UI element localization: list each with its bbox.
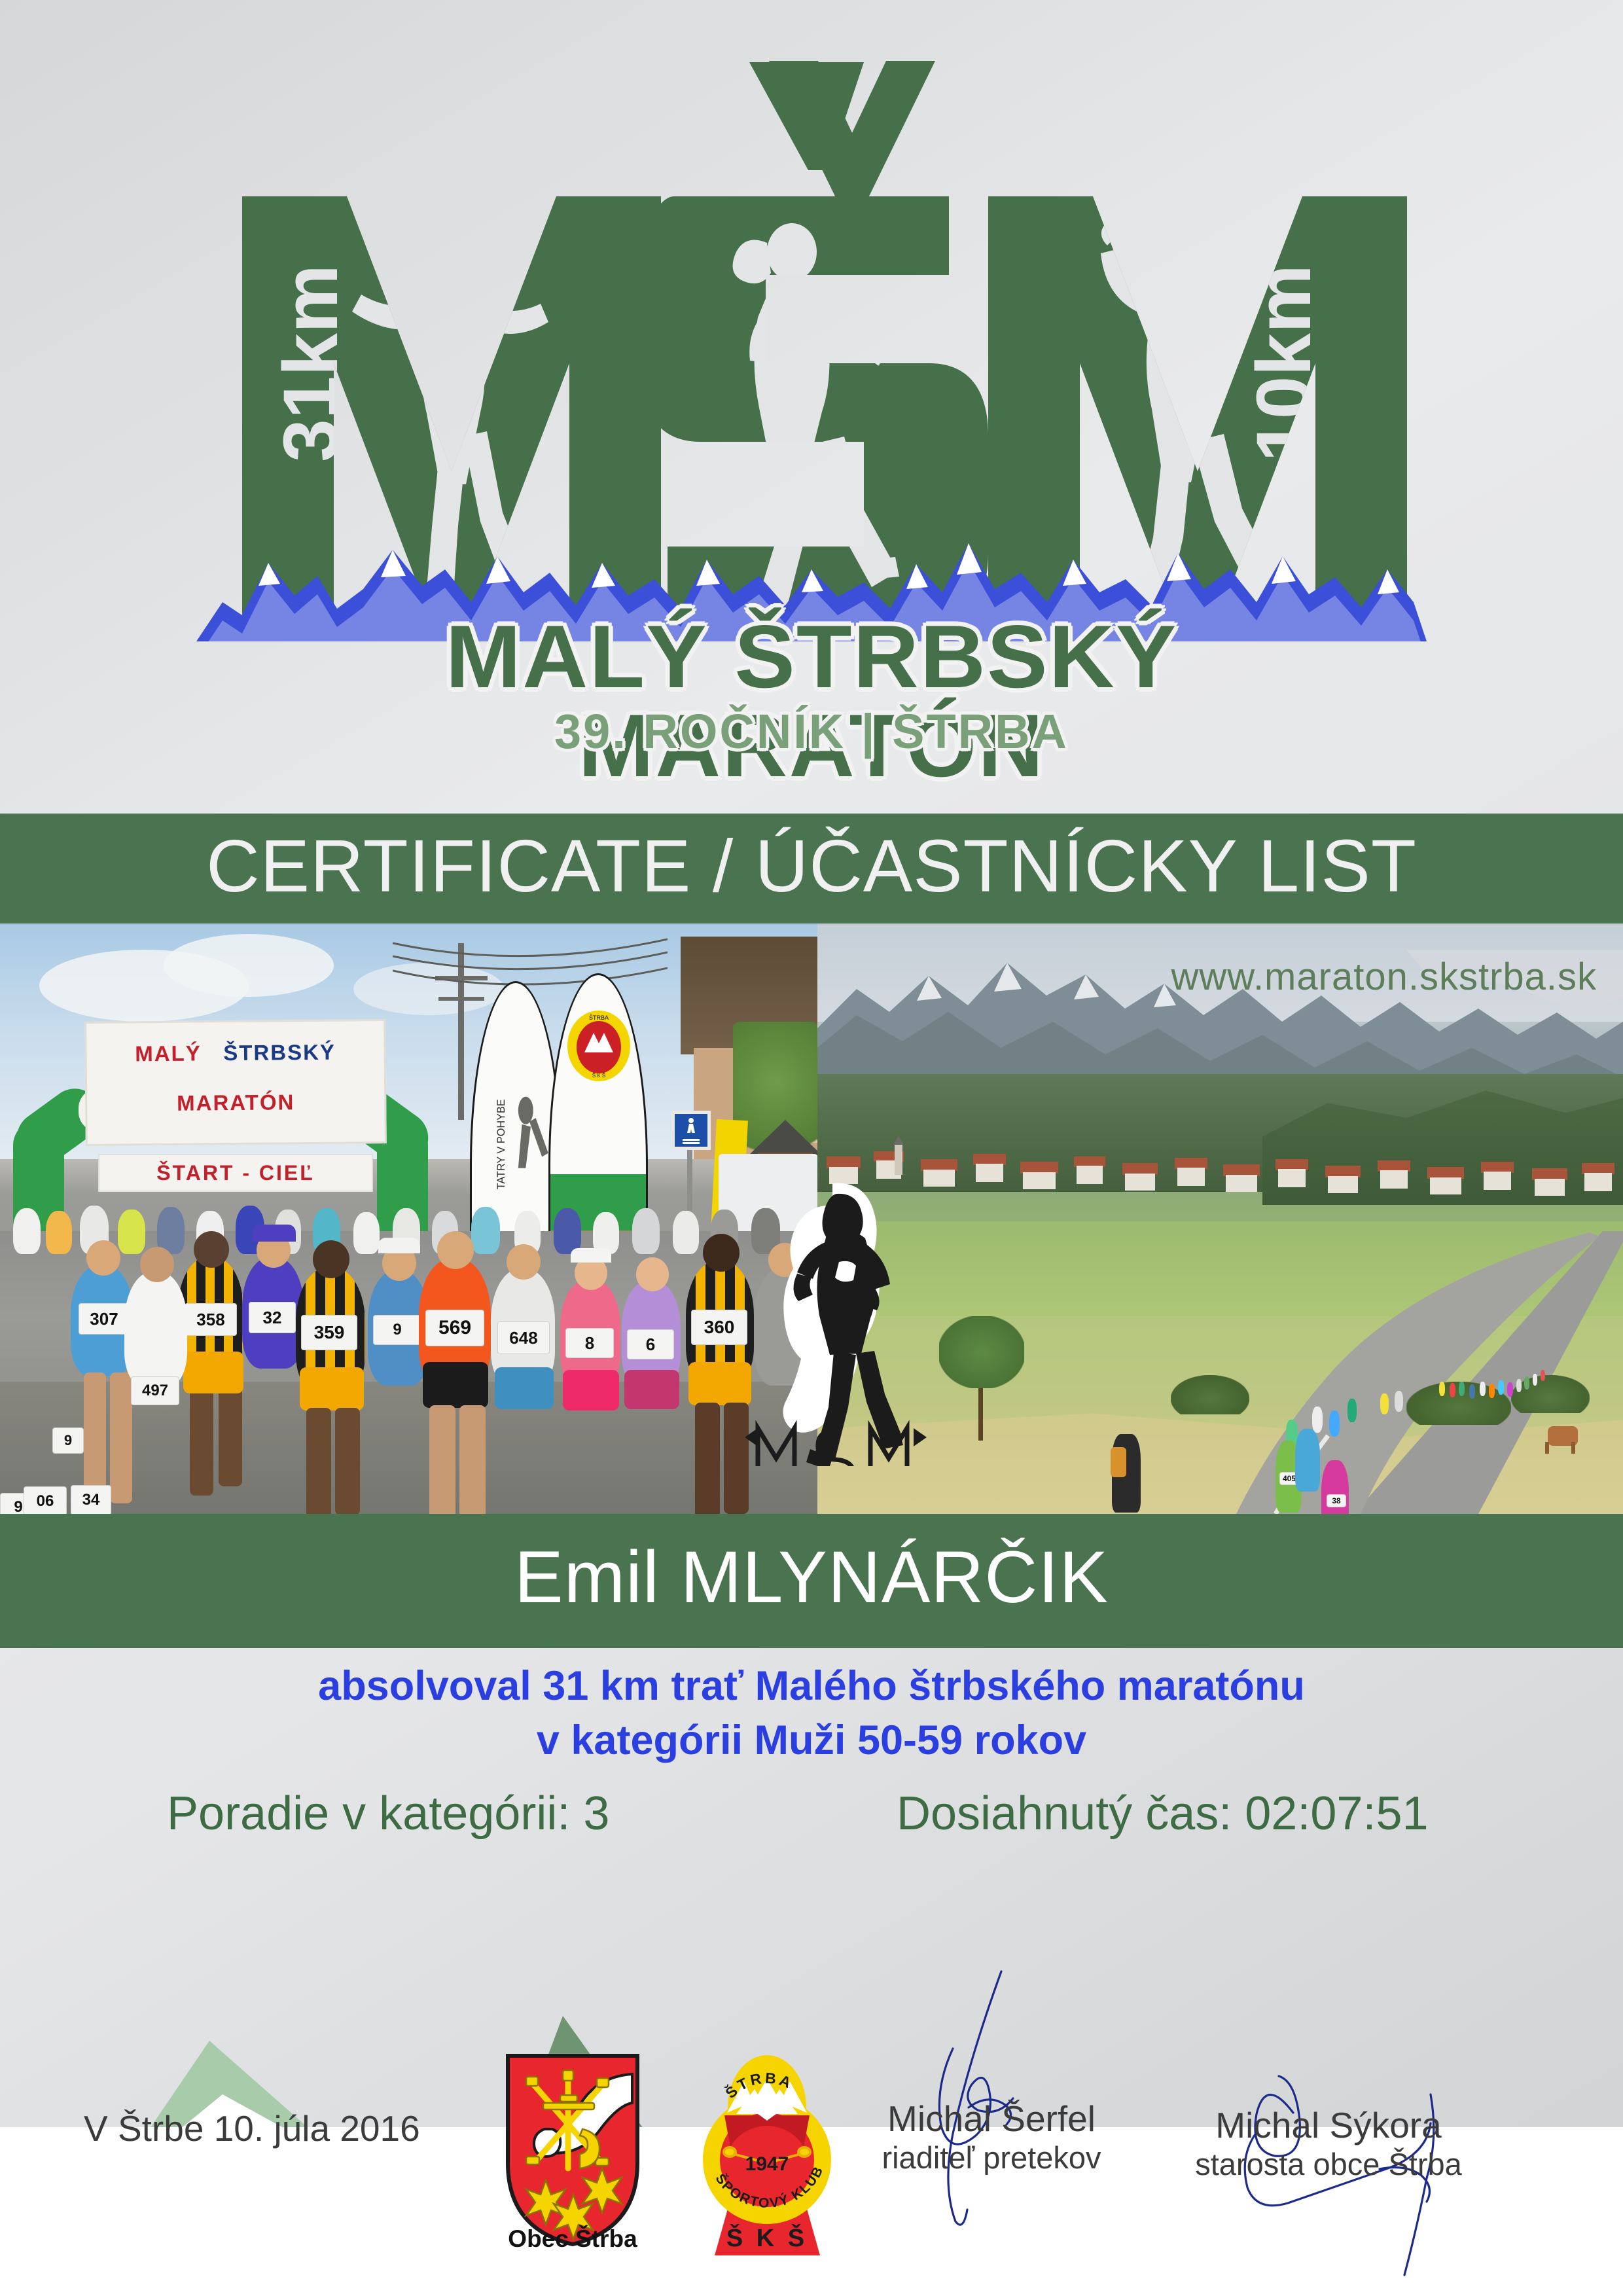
finish-time: Dosiahnutý čas: 02:07:51 <box>897 1787 1429 1840</box>
distance-31km-text: 31km <box>268 264 354 462</box>
cow-leg <box>1545 1442 1549 1454</box>
certificate-banner: CERTIFICATE / ÚČASTNÍCKY LIST <box>0 814 1623 924</box>
bib-number: 38 <box>1327 1494 1346 1507</box>
sks-club-emblem: ŠTRBA ŠPORTOVÝ KLUB 1947 Š K Š <box>697 2042 838 2268</box>
bib-number: 9 <box>373 1315 421 1345</box>
mayor-role: starosta obce Štrba <box>1171 2146 1486 2182</box>
cap <box>378 1238 420 1253</box>
cap <box>253 1225 296 1242</box>
crowd-mid-row: 307 358 32 497 <box>0 1231 817 1514</box>
logo-inner: 31km <box>216 36 1407 772</box>
bib-number: 360 <box>691 1310 747 1345</box>
event-title: MALÝ ŠTRBSKÝ MARATÓN <box>204 612 1419 790</box>
msm-runner-sticker <box>741 1178 931 1466</box>
event-subtitle: 39. ROČNÍK | ŠTRBA <box>216 708 1407 756</box>
achievement-line-2: v kategórii Muži 50-59 rokov <box>0 1713 1623 1768</box>
svg-text:TATRY V POHYBE: TATRY V POHYBE <box>495 1099 507 1189</box>
course-runners <box>1184 1382 1550 1513</box>
director-role: riaditeľ pretekov <box>854 2140 1129 2176</box>
arch-banner: MALÝ ŠTRBSKÝ MARATÓN <box>84 1019 387 1146</box>
bib-number: 359 <box>301 1315 357 1350</box>
mayor-name: Michal Sýkora <box>1171 2104 1486 2146</box>
bib-number: 307 <box>79 1303 130 1335</box>
achievement-text: absolvoval 31 km trať Malého štrbského m… <box>0 1659 1623 1768</box>
lone-tree <box>935 1316 1027 1441</box>
coat-of-arms-caption: Obec Štrba <box>488 2225 658 2253</box>
runner-name: Emil MLYNÁRČIK <box>514 1541 1109 1614</box>
bib-number: 358 <box>185 1303 237 1336</box>
arch-banner-line2: MARATÓN <box>87 1089 384 1117</box>
achievement-line-1: absolvoval 31 km trať Malého štrbského m… <box>0 1659 1623 1713</box>
photo-course-view: 405 38 www.maraton.skstrba.sk <box>817 924 1623 1514</box>
club-year: 1947 <box>745 2153 789 2175</box>
bib-number: 648 <box>497 1321 550 1354</box>
bib-number: 497 <box>131 1376 179 1405</box>
svg-text:ŠTRBA: ŠTRBA <box>589 1014 609 1021</box>
pedestrian-crossing-sign <box>671 1111 711 1150</box>
svg-text:Š K Š: Š K Š <box>592 1073 605 1079</box>
runner-name-banner: Emil MLYNÁRČIK <box>0 1514 1623 1648</box>
event-logo-block: 31km <box>0 0 1623 791</box>
runner-near <box>1295 1429 1320 1492</box>
bib-number: 569 <box>425 1310 484 1346</box>
arch-word-strbsky: ŠTRBSKÝ <box>223 1040 336 1065</box>
signature-block-mayor: Michal Sýkora starosta obce Štrba <box>1171 2104 1486 2182</box>
cap <box>571 1248 611 1263</box>
cow-leg <box>1571 1442 1575 1454</box>
strba-coat-of-arms <box>504 2052 641 2248</box>
issue-date: V Štrbe 10. júla 2016 <box>84 2108 420 2149</box>
cloud <box>164 934 334 997</box>
certificate-banner-label: CERTIFICATE / ÚČASTNÍCKY LIST <box>206 829 1417 903</box>
bib-number: 6 <box>627 1329 674 1359</box>
website-url: www.maraton.skstrba.sk <box>1171 955 1597 999</box>
category-rank: Poradie v kategórii: 3 <box>167 1787 609 1840</box>
bib-number: 06 <box>24 1486 67 1514</box>
arch-banner-line1: MALÝ ŠTRBSKÝ <box>86 1039 383 1067</box>
certificate-page: 31km <box>0 0 1623 2296</box>
bib-number: 9 <box>52 1427 84 1454</box>
distance-10km-text: 10km <box>1241 264 1327 462</box>
director-name: Michal Šerfel <box>854 2098 1129 2140</box>
bib-number: 8 <box>565 1328 614 1358</box>
bib-number: 34 <box>71 1485 111 1514</box>
photo-start-line: MALÝ ŠTRBSKÝ MARATÓN ŠTART - CIEĽ TATRY … <box>0 924 817 1514</box>
bib-number: 32 <box>249 1302 296 1333</box>
signature-block-director: Michal Šerfel riaditeľ pretekov <box>854 2098 1129 2176</box>
arch-word-maly: MALÝ <box>135 1041 202 1066</box>
results-row: Poradie v kategórii: 3 Dosiahnutý čas: 0… <box>0 1787 1623 1865</box>
backpack <box>1111 1447 1126 1477</box>
club-abbrev: Š K Š <box>726 2223 808 2252</box>
